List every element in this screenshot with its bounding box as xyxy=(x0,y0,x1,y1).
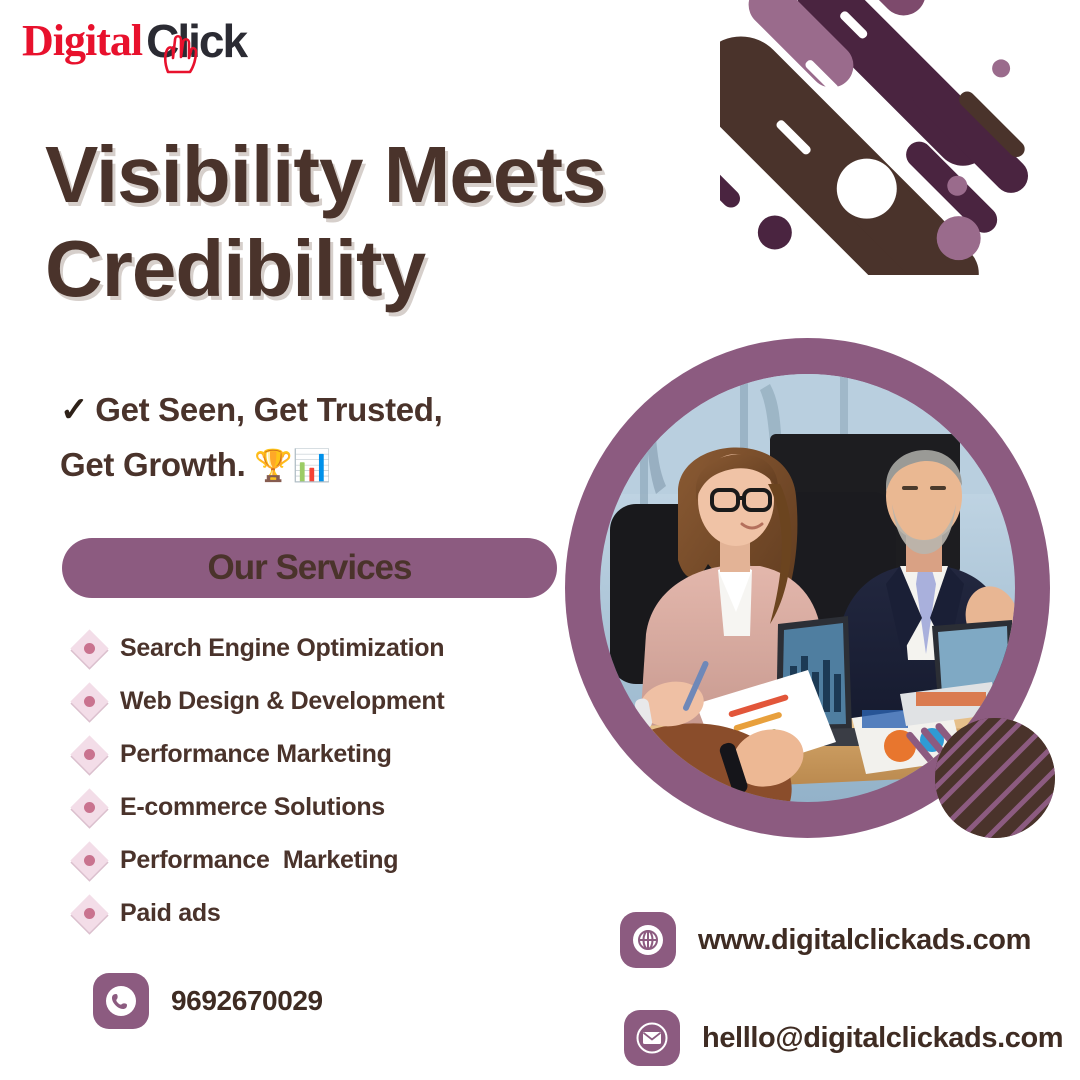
diamond-bullet-icon xyxy=(70,841,108,879)
tagline-line-1: Get Seen, Get Trusted, xyxy=(95,391,442,428)
phone-icon xyxy=(93,973,149,1029)
logo-digital-text: Digital xyxy=(22,19,142,63)
headline: Visibility Meets Credibility xyxy=(45,128,685,317)
headline-line-2: Credibility xyxy=(45,222,685,316)
poster-canvas: Digital Click Visibility Meets Credibili… xyxy=(0,0,1080,1080)
services-list: Search Engine Optimization Web Design & … xyxy=(76,622,576,940)
contact-email[interactable]: helllo@digitalclickads.com xyxy=(624,1010,1063,1066)
logo-click-text: Click xyxy=(146,14,246,68)
diamond-bullet-icon xyxy=(70,788,108,826)
list-item[interactable]: Performance Marketing xyxy=(76,834,576,887)
website-url: www.digitalclickads.com xyxy=(698,924,1031,957)
diamond-bullet-icon xyxy=(70,894,108,932)
list-item[interactable]: Web Design & Development xyxy=(76,675,576,728)
service-label: Performance Marketing xyxy=(120,846,398,875)
decorative-streaks xyxy=(720,0,1080,275)
diamond-bullet-icon xyxy=(70,735,108,773)
our-services-pill: Our Services xyxy=(62,538,557,598)
list-item[interactable]: Performance Marketing xyxy=(76,728,576,781)
list-item[interactable]: Search Engine Optimization xyxy=(76,622,576,675)
tagline-line-2: Get Growth. xyxy=(60,446,246,483)
diamond-bullet-icon xyxy=(70,629,108,667)
diamond-bullet-icon xyxy=(70,682,108,720)
contact-website[interactable]: www.digitalclickads.com xyxy=(620,912,1031,968)
envelope-icon xyxy=(624,1010,680,1066)
service-label: Paid ads xyxy=(120,899,220,928)
service-label: Web Design & Development xyxy=(120,687,444,716)
brand-logo[interactable]: Digital Click xyxy=(22,12,246,70)
contact-phone[interactable]: 9692670029 xyxy=(93,973,323,1029)
our-services-label: Our Services xyxy=(208,548,412,588)
service-label: E-commerce Solutions xyxy=(120,793,385,822)
headline-line-1: Visibility Meets xyxy=(45,130,606,219)
trophy-icon: 🏆 xyxy=(254,448,292,483)
cursor-hand-icon xyxy=(160,32,210,76)
striped-circle-decoration xyxy=(935,718,1055,838)
globe-icon xyxy=(620,912,676,968)
list-item[interactable]: E-commerce Solutions xyxy=(76,781,576,834)
bar-chart-icon: 📊 xyxy=(293,448,331,483)
phone-number: 9692670029 xyxy=(171,985,323,1017)
list-item[interactable]: Paid ads xyxy=(76,887,576,940)
service-label: Performance Marketing xyxy=(120,740,392,769)
email-address: helllo@digitalclickads.com xyxy=(702,1022,1063,1055)
check-icon: ✓ xyxy=(60,391,88,429)
service-label: Search Engine Optimization xyxy=(120,634,444,663)
tagline: ✓Get Seen, Get Trusted, Get Growth. 🏆📊 xyxy=(60,382,580,493)
